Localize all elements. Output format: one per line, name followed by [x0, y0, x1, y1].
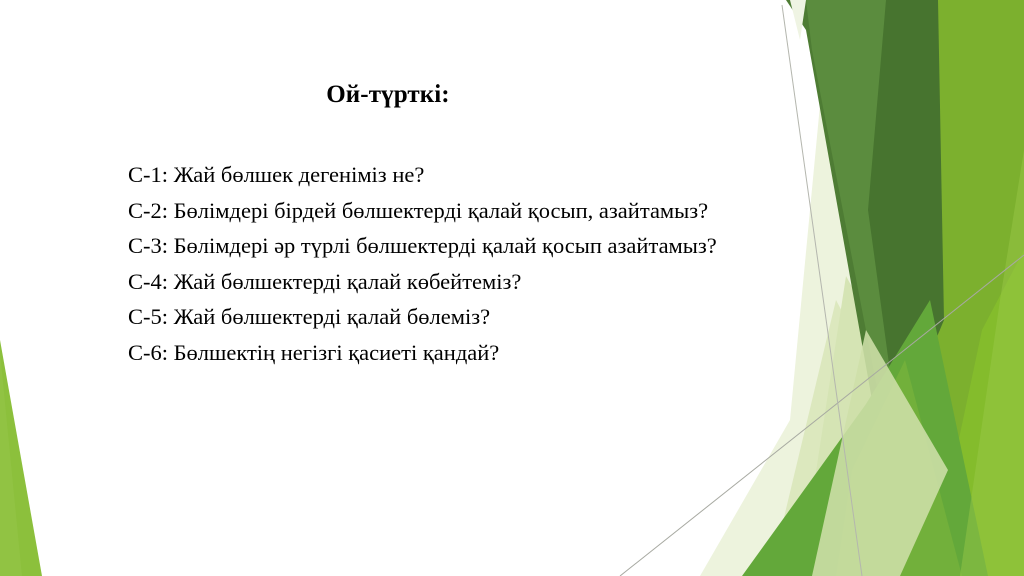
- pale-triangle-lower-2: [800, 276, 1010, 576]
- list-item: С-4: Жай бөлшектерді қалай көбейтеміз?: [128, 264, 788, 300]
- dark-green-v-main: [806, 0, 940, 424]
- bright-green-lower-right: [930, 250, 1024, 576]
- list-item: С-5: Жай бөлшектерді қалай бөлеміз?: [128, 299, 788, 335]
- pale-triangle-lower: [770, 300, 980, 576]
- lime-right-column: [905, 0, 1024, 576]
- page-title: Ой-түрткі:: [128, 80, 648, 110]
- slide-canvas: Ой-түрткі: С-1: Жай бөлшек дегеніміз не?…: [0, 0, 1024, 576]
- dark-green-v-left: [786, 0, 930, 400]
- pale-slice-over-v: [812, 330, 948, 576]
- list-item: С-1: Жай бөлшек дегеніміз не?: [128, 157, 788, 193]
- faint-right-lighten: [960, 150, 1024, 576]
- list-item: С-3: Бөлімдері әр түрлі бөлшектерді қала…: [128, 228, 788, 264]
- list-item: С-2: Бөлімдері бірдей бөлшектерді қалай …: [128, 193, 788, 229]
- thin-diagonal-line-upper: [782, 5, 862, 576]
- yellow-green-wedge: [860, 0, 1024, 576]
- light-overlay-sweep: [836, 360, 962, 576]
- slide-content: Ой-түрткі: С-1: Жай бөлшек дегеніміз не?…: [0, 0, 780, 576]
- list-item: С-6: Бөлшектің негізгі қасиеті қандай?: [128, 335, 788, 371]
- question-list: С-1: Жай бөлшек дегеніміз не? С-2: Бөлім…: [128, 157, 788, 371]
- pale-sliver-top: [790, 0, 806, 40]
- dark-green-v-facet: [868, 0, 944, 430]
